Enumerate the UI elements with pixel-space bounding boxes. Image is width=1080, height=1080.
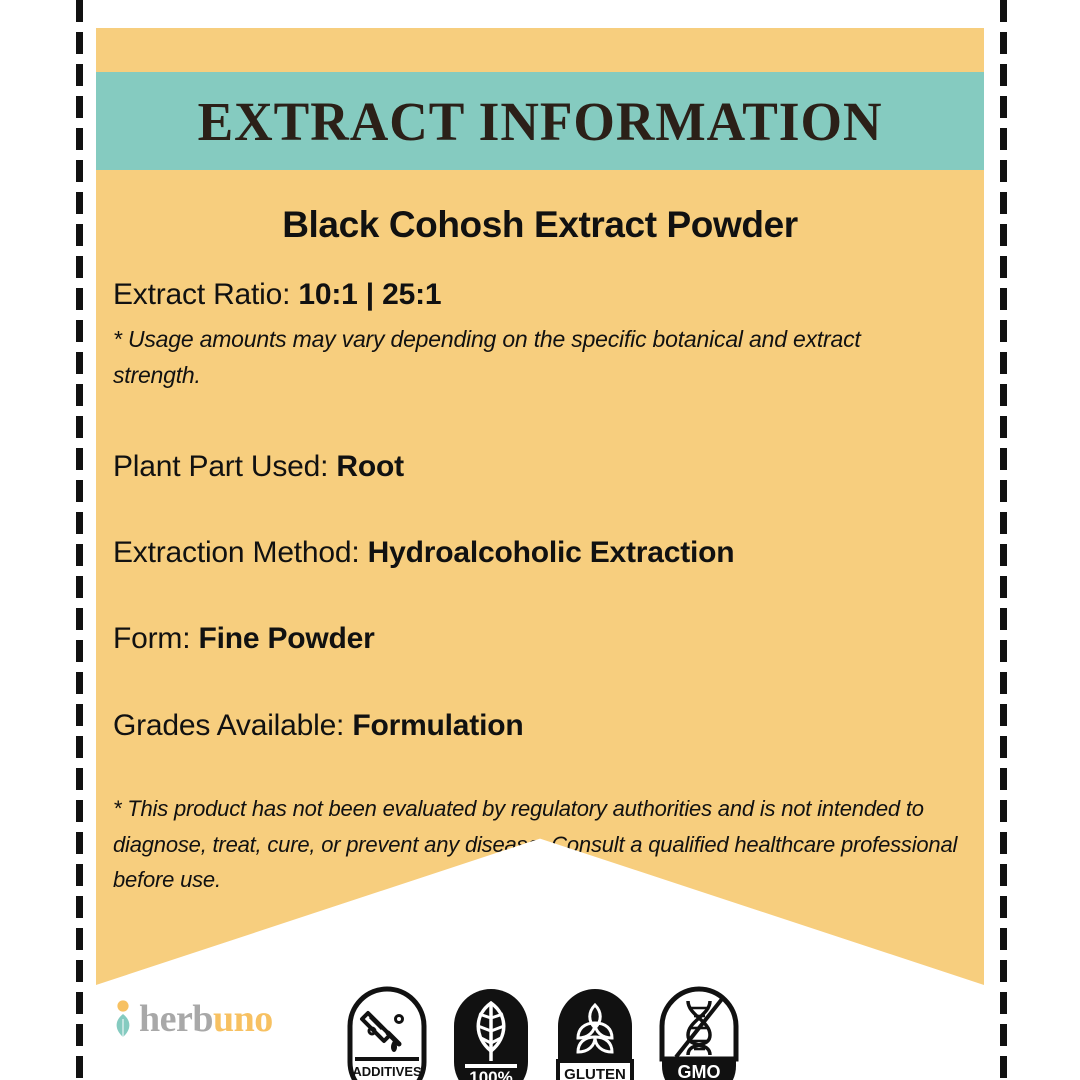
field-form: Form: Fine Powder [113, 620, 973, 658]
field-label-plant-part-used: Plant Part Used: [113, 450, 328, 483]
field-plant-part-used: Plant Part Used: Root [113, 448, 973, 486]
badge-gluten-free: GLUTEN FREE [554, 985, 636, 1080]
field-label-form: Form: [113, 622, 190, 655]
usage-note: * Usage amounts may vary depending on th… [113, 322, 948, 393]
badge-vegan-line1: 100% [469, 1068, 512, 1080]
field-value-grades-available: Formulation [352, 709, 523, 742]
dashed-border-left [76, 0, 83, 1080]
field-grades-available: Grades Available: Formulation [113, 707, 973, 745]
product-name: Black Cohosh Extract Powder [96, 204, 984, 246]
field-label-extract-ratio: Extract Ratio: [113, 278, 290, 311]
extract-information-card: EXTRACT INFORMATION Black Cohosh Extract… [0, 0, 1080, 1080]
certification-badges: ADDITIVES FREE 100% VEGAN [346, 985, 740, 1080]
field-value-extract-ratio: 10:1 | 25:1 [298, 278, 441, 311]
info-card: EXTRACT INFORMATION Black Cohosh Extract… [96, 28, 984, 985]
field-extraction-method: Extraction Method: Hydroalcoholic Extrac… [113, 534, 973, 572]
brand-herb: herb [139, 998, 213, 1040]
details-block: Extract Ratio: 10:1 | 25:1 * Usage amoun… [113, 276, 973, 898]
badge-vegan: 100% VEGAN [450, 985, 532, 1080]
field-label-grades-available: Grades Available: [113, 709, 344, 742]
header-band: EXTRACT INFORMATION [96, 72, 984, 170]
field-value-extraction-method: Hydroalcoholic Extraction [368, 536, 735, 569]
field-value-plant-part-used: Root [336, 450, 404, 483]
page-title: EXTRACT INFORMATION [198, 90, 883, 153]
field-value-form: Fine Powder [198, 622, 374, 655]
dashed-border-right [1000, 0, 1007, 1080]
brand-logo: herbuno [110, 997, 273, 1041]
brand-wordmark: herbuno [139, 997, 273, 1041]
herbuno-leaf-icon [110, 999, 136, 1039]
field-extract-ratio: Extract Ratio: 10:1 | 25:1 [113, 276, 973, 314]
field-label-extraction-method: Extraction Method: [113, 536, 360, 569]
badge-additives-free: ADDITIVES FREE [346, 985, 428, 1080]
footer: herbuno ADDITIVES FREE [0, 985, 1080, 1080]
badge-gluten-line1: GLUTEN [564, 1066, 626, 1080]
brand-uno: uno [213, 998, 273, 1040]
badge-gmo-free: GMO FREE [658, 985, 740, 1080]
disclaimer-note: * This product has not been evaluated by… [113, 791, 965, 898]
